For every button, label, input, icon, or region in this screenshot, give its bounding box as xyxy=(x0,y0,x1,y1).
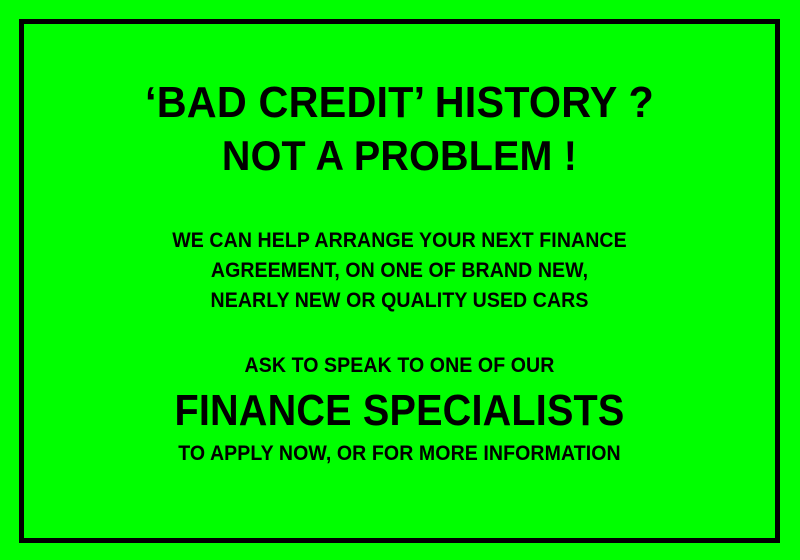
headline-line-2: NOT A PROBLEM ! xyxy=(47,131,753,181)
body-line-2: AGREEMENT, ON ONE OF BRAND NEW, xyxy=(50,256,748,286)
body-paragraph: WE CAN HELP ARRANGE YOUR NEXT FINANCE AG… xyxy=(24,226,775,315)
call-to-action-block: ASK TO SPEAK TO ONE OF OUR FINANCE SPECI… xyxy=(24,352,775,468)
headline-line-1: ‘BAD CREDIT’ HISTORY ? xyxy=(47,80,753,127)
cta-headline-finance-specialists: FINANCE SPECIALISTS xyxy=(62,385,738,436)
headline-block: ‘BAD CREDIT’ HISTORY ? NOT A PROBLEM ! xyxy=(24,80,775,180)
cta-lead-text: ASK TO SPEAK TO ONE OF OUR xyxy=(50,352,748,379)
poster-content: ‘BAD CREDIT’ HISTORY ? NOT A PROBLEM ! W… xyxy=(24,24,775,538)
body-line-1: WE CAN HELP ARRANGE YOUR NEXT FINANCE xyxy=(50,226,748,256)
advertisement-poster: ‘BAD CREDIT’ HISTORY ? NOT A PROBLEM ! W… xyxy=(0,0,800,560)
cta-tail-text: TO APPLY NOW, OR FOR MORE INFORMATION xyxy=(50,440,748,467)
body-line-3: NEARLY NEW OR QUALITY USED CARS xyxy=(50,286,748,316)
